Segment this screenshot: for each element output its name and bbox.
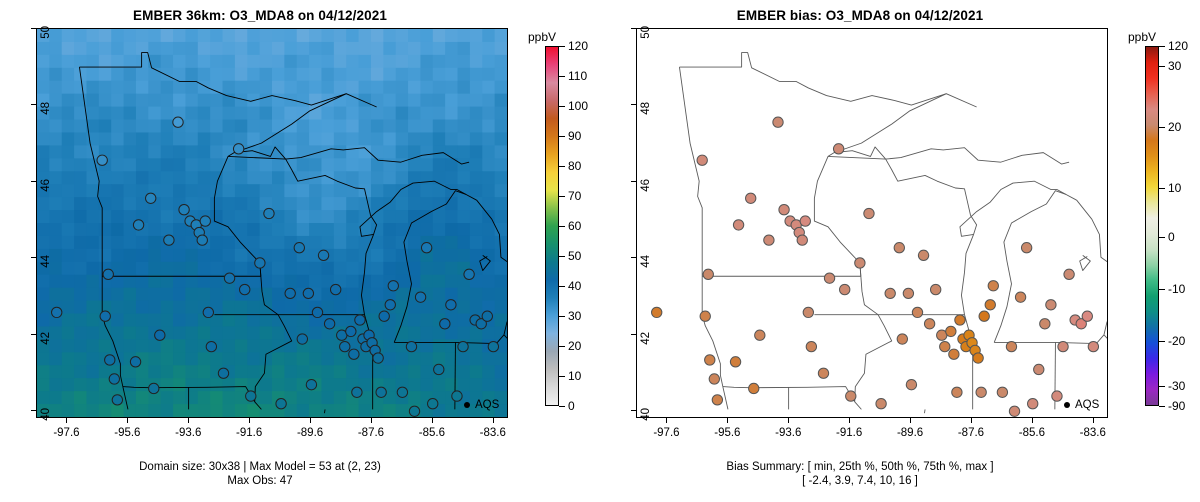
y-tick-label: 40 — [640, 408, 652, 448]
colorbar-tick — [559, 376, 565, 377]
colorbar-tick — [559, 316, 565, 317]
colorbar-tick-label: 120 — [568, 39, 588, 53]
y-tick-label: 42 — [40, 332, 52, 372]
colorbar-tick-label: 80 — [568, 159, 581, 173]
x-tick-label: -93.6 — [758, 427, 818, 439]
x-tick — [188, 418, 189, 423]
x-tick — [493, 418, 494, 423]
x-tick — [310, 418, 311, 423]
x-tick — [432, 418, 433, 423]
y-tick-label: 46 — [640, 179, 652, 219]
x-tick-label: -91.6 — [219, 427, 279, 439]
colorbar-tick — [559, 256, 565, 257]
y-tick — [631, 334, 636, 335]
colorbar-tick-label: 10 — [1168, 181, 1181, 195]
colorbar-bias — [1145, 46, 1159, 406]
y-tick-label: 44 — [40, 255, 52, 295]
y-tick-label: 48 — [40, 102, 52, 142]
y-tick-label: 48 — [640, 102, 652, 142]
aqs-legend-label: AQS — [1075, 399, 1099, 411]
panel-bias: EMBER bias: O3_MDA8 on 04/12/2021 -97.6-… — [600, 0, 1200, 502]
y-tick-label: 50 — [640, 26, 652, 66]
colorbar-tick-label: 30 — [1168, 59, 1181, 73]
colorbar-tick — [559, 136, 565, 137]
panel-model: EMBER 36km: O3_MDA8 on 04/12/2021 -97.6-… — [0, 0, 600, 502]
colorbar-model — [545, 46, 559, 406]
caption-line1: Domain size: 30x38 | Max Model = 53 at (… — [0, 460, 520, 474]
aqs-legend-model: AQS — [464, 399, 499, 411]
colorbar-tick-label: 70 — [568, 189, 581, 203]
colorbar-tick — [559, 286, 565, 287]
x-tick — [971, 418, 972, 423]
y-tick — [31, 181, 36, 182]
colorbar-tick-label: -10 — [1168, 282, 1185, 296]
x-tick-label: -87.6 — [941, 427, 1001, 439]
x-tick — [788, 418, 789, 423]
colorbar-tick-label: 60 — [568, 219, 581, 233]
colorbar-tick-label: 120 — [1168, 39, 1188, 53]
x-tick — [127, 418, 128, 423]
x-tick-label: -91.6 — [819, 427, 879, 439]
colorbar-tick-label: -20 — [1168, 334, 1185, 348]
y-tick-label: 46 — [40, 179, 52, 219]
y-tick — [31, 410, 36, 411]
x-tick-label: -89.6 — [880, 427, 940, 439]
y-tick — [31, 334, 36, 335]
y-tick — [31, 28, 36, 29]
colorbar-tick — [1159, 386, 1165, 387]
colorbar-tick — [1159, 46, 1165, 47]
x-tick — [249, 418, 250, 423]
panel-title-model: EMBER 36km: O3_MDA8 on 04/12/2021 — [0, 8, 520, 23]
y-tick — [631, 257, 636, 258]
plot-area-bias — [636, 28, 1108, 418]
colorbar-tick — [1159, 341, 1165, 342]
x-tick-label: -95.6 — [97, 427, 157, 439]
colorbar-tick-label: 0 — [568, 399, 575, 413]
plot-area-model — [36, 28, 508, 418]
y-tick-label: 50 — [40, 26, 52, 66]
caption-line1: Bias Summary: [ min, 25th %, 50th %, 75t… — [600, 460, 1120, 474]
x-tick — [666, 418, 667, 423]
colorbar-tick-label: 20 — [1168, 120, 1181, 134]
x-tick — [849, 418, 850, 423]
colorbar-tick — [559, 196, 565, 197]
x-tick — [727, 418, 728, 423]
x-tick — [1032, 418, 1033, 423]
colorbar-tick — [559, 166, 565, 167]
colorbar-tick-label: 0 — [1168, 230, 1175, 244]
caption-model: Domain size: 30x38 | Max Model = 53 at (… — [0, 460, 520, 488]
colorbar-tick — [559, 76, 565, 77]
station-markers-bias[interactable] — [637, 29, 1107, 417]
y-tick — [31, 104, 36, 105]
aqs-legend-bias: AQS — [1064, 399, 1099, 411]
colorbar-tick — [559, 226, 565, 227]
colorbar-tick-label: 40 — [568, 279, 581, 293]
aqs-dot-icon — [464, 402, 470, 408]
map-clip-bias — [637, 29, 1107, 417]
aqs-dot-icon — [1064, 402, 1070, 408]
map-clip-model — [37, 29, 507, 417]
colorbar-tick — [559, 106, 565, 107]
colorbar-tick — [1159, 127, 1165, 128]
x-tick-label: -93.6 — [158, 427, 218, 439]
station-markers-model[interactable] — [37, 29, 507, 417]
colorbar-unit-bias: ppbV — [1128, 30, 1156, 44]
y-tick-label: 40 — [40, 408, 52, 448]
caption-line2: Max Obs: 47 — [0, 474, 520, 488]
x-tick-label: -83.6 — [463, 427, 523, 439]
colorbar-tick — [559, 46, 565, 47]
colorbar-tick — [1159, 188, 1165, 189]
x-tick-label: -83.6 — [1063, 427, 1123, 439]
colorbar-tick — [559, 346, 565, 347]
x-tick-label: -85.6 — [1002, 427, 1062, 439]
y-tick — [631, 104, 636, 105]
colorbar-tick — [559, 406, 565, 407]
caption-bias: Bias Summary: [ min, 25th %, 50th %, 75t… — [600, 460, 1120, 488]
y-tick — [631, 28, 636, 29]
colorbar-tick — [1159, 66, 1165, 67]
y-tick-label: 42 — [640, 332, 652, 372]
colorbar-tick-label: 90 — [568, 129, 581, 143]
x-tick-label: -87.6 — [341, 427, 401, 439]
x-tick — [910, 418, 911, 423]
caption-line2: [ -2.4, 3.9, 7.4, 10, 16 ] — [600, 474, 1120, 488]
y-tick — [31, 257, 36, 258]
colorbar-tick-label: 20 — [568, 339, 581, 353]
x-tick — [371, 418, 372, 423]
y-tick — [631, 410, 636, 411]
colorbar-tick-label: -90 — [1168, 399, 1185, 413]
figure-root: EMBER 36km: O3_MDA8 on 04/12/2021 -97.6-… — [0, 0, 1200, 502]
x-tick-label: -89.6 — [280, 427, 340, 439]
colorbar-tick-label: 110 — [568, 69, 587, 83]
y-tick-label: 44 — [640, 255, 652, 295]
colorbar-tick — [1159, 406, 1165, 407]
aqs-legend-label: AQS — [475, 399, 499, 411]
colorbar-tick — [1159, 289, 1165, 290]
colorbar-tick-label: 100 — [568, 99, 588, 113]
colorbar-tick-label: -30 — [1168, 379, 1185, 393]
colorbar-unit-model: ppbV — [528, 30, 556, 44]
colorbar-tick-label: 30 — [568, 309, 581, 323]
panel-title-bias: EMBER bias: O3_MDA8 on 04/12/2021 — [600, 8, 1120, 23]
x-tick — [1093, 418, 1094, 423]
x-tick-label: -85.6 — [402, 427, 462, 439]
colorbar-tick-label: 50 — [568, 249, 581, 263]
x-tick — [66, 418, 67, 423]
y-tick — [631, 181, 636, 182]
colorbar-tick — [1159, 237, 1165, 238]
colorbar-tick-label: 10 — [568, 369, 581, 383]
x-tick-label: -95.6 — [697, 427, 757, 439]
